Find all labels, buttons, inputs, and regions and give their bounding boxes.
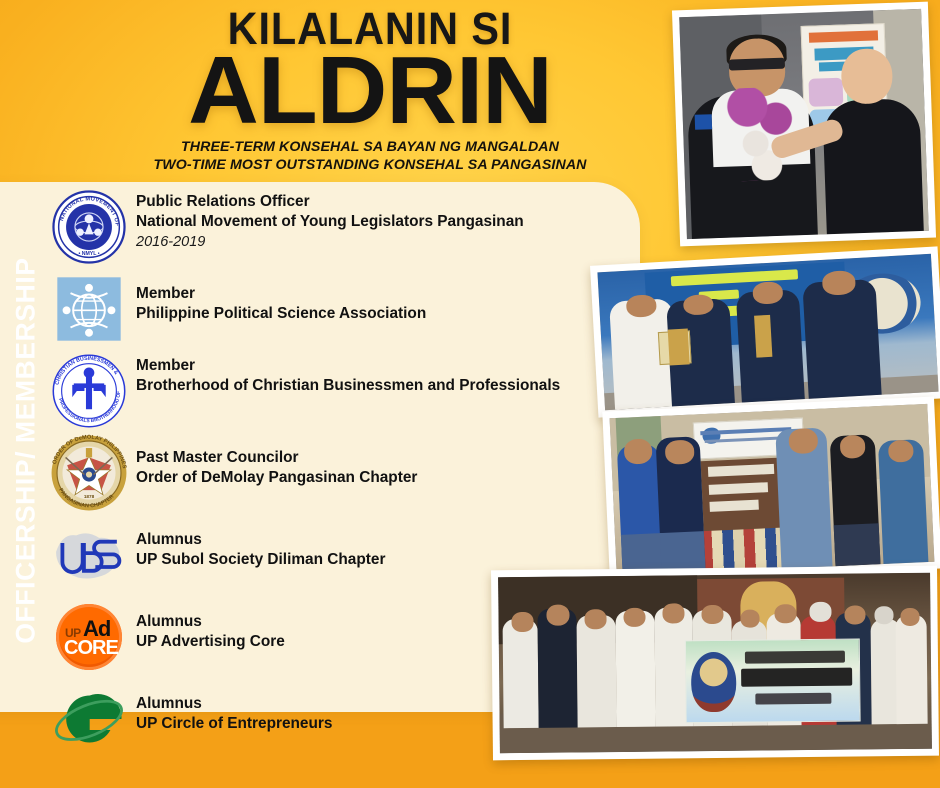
entry-role: Public Relations Officer xyxy=(136,192,524,212)
section-label-text: OFFICERSHIP/ MEMBERSHIP xyxy=(11,257,42,643)
entry-role: Alumnus xyxy=(136,530,385,550)
svg-text:• NMYL •: • NMYL • xyxy=(78,251,99,257)
list-item: ORDER OF DeMOLAY PHILIPPINES PANGASINAN … xyxy=(50,434,650,512)
photo-upcat-review xyxy=(602,397,940,584)
entry-organization: Philippine Political Science Association xyxy=(136,304,426,324)
entry-role: Member xyxy=(136,284,426,304)
entry-organization: Brotherhood of Christian Businessmen and… xyxy=(136,376,560,396)
bcbp-seal-logo: CHRISTIAN BUSINESSMEN & PROFESSIONALS BR… xyxy=(50,352,128,430)
list-item: CHRISTIAN BUSINESSMEN & PROFESSIONALS BR… xyxy=(50,352,650,430)
list-item: Member Philippine Political Science Asso… xyxy=(50,270,650,348)
photo-police-awarding xyxy=(590,246,940,417)
list-item-text: Past Master Councilor Order of DeMolay P… xyxy=(128,434,417,489)
list-item-text: Member Philippine Political Science Asso… xyxy=(128,270,426,325)
photo-lei-award-image xyxy=(679,9,929,239)
photo-lei-award xyxy=(672,2,936,247)
entry-years: 2016-2019 xyxy=(136,233,524,252)
photo-police-awarding-image xyxy=(597,254,938,410)
ppsa-globe-logo xyxy=(50,270,128,348)
up-subol-logo xyxy=(50,516,128,594)
up-entrepreneurs-logo xyxy=(50,680,128,758)
entry-organization: Order of DeMolay Pangasinan Chapter xyxy=(136,468,417,488)
entry-role: Past Master Councilor xyxy=(136,448,417,468)
page-title: ALDRIN xyxy=(64,47,676,135)
entry-role: Alumnus xyxy=(136,694,332,714)
entry-role: Member xyxy=(136,356,560,376)
poster-root: KILALANIN SI ALDRIN THREE-TERM KONSEHAL … xyxy=(0,0,940,788)
photo-upcat-review-image xyxy=(610,404,935,576)
list-item-text: Alumnus UP Advertising Core xyxy=(128,598,285,653)
demolay-seal-logo: ORDER OF DeMOLAY PHILIPPINES PANGASINAN … xyxy=(50,434,128,512)
entry-organization: UP Subol Society Diliman Chapter xyxy=(136,550,385,570)
list-item-text: Member Brotherhood of Christian Business… xyxy=(128,352,560,397)
svg-text:1878: 1878 xyxy=(84,494,95,499)
list-item-text: Alumnus UP Circle of Entrepreneurs xyxy=(128,680,332,735)
section-label-vertical: OFFICERSHIP/ MEMBERSHIP xyxy=(6,190,46,710)
photo-mama-mary xyxy=(491,566,939,761)
adcore-core-text: CORE xyxy=(64,637,118,660)
nmyl-seal-logo: NATIONAL MOVEMENT OF YOUNG LEGISLATORS •… xyxy=(50,188,128,266)
poster-header: KILALANIN SI ALDRIN THREE-TERM KONSEHAL … xyxy=(70,6,670,175)
entry-organization: UP Advertising Core xyxy=(136,632,285,652)
list-item-text: Public Relations Officer National Moveme… xyxy=(128,188,524,252)
list-item-text: Alumnus UP Subol Society Diliman Chapter xyxy=(128,516,385,571)
entry-role: Alumnus xyxy=(136,612,285,632)
photo-mama-mary-image xyxy=(498,573,932,754)
header-subtitle-line2: TWO-TIME MOST OUTSTANDING KONSEHAL SA PA… xyxy=(70,157,670,175)
list-item: NATIONAL MOVEMENT OF YOUNG LEGISLATORS •… xyxy=(50,188,650,266)
up-adcore-logo: UP Ad CORE xyxy=(50,598,128,676)
entry-organization: UP Circle of Entrepreneurs xyxy=(136,714,332,734)
adcore-circle: UP Ad CORE xyxy=(56,604,122,670)
entry-organization: National Movement of Young Legislators P… xyxy=(136,212,524,232)
